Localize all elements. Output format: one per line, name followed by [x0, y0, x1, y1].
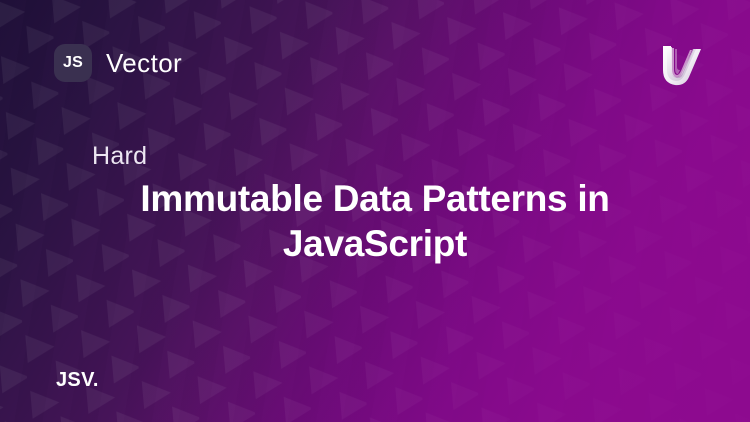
slide-canvas: JS Vector Hard	[0, 0, 750, 422]
difficulty-badge: Hard	[92, 142, 670, 171]
title-block: Hard Immutable Data Patterns in JavaScri…	[0, 0, 750, 422]
page-title-line-1: Immutable Data Patterns in	[140, 178, 609, 219]
footer-watermark: JSV.	[56, 370, 99, 390]
page-title-line-2: JavaScript	[283, 223, 467, 264]
page-title: Immutable Data Patterns in JavaScript	[80, 177, 670, 266]
